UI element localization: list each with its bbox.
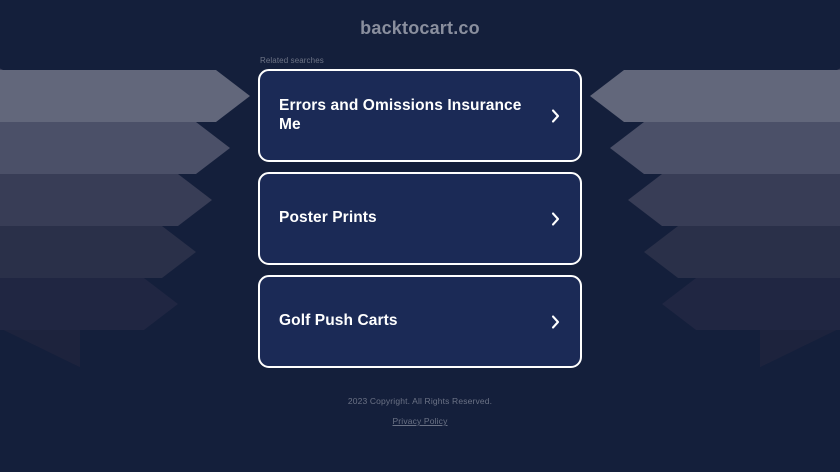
- related-search-title: Golf Push Carts: [279, 312, 549, 330]
- related-search-card-3[interactable]: Golf Push Carts: [258, 275, 582, 368]
- chevron-right-icon: [549, 209, 562, 229]
- related-search-card-2[interactable]: Poster Prints: [258, 172, 582, 265]
- related-search-title: Poster Prints: [279, 209, 549, 227]
- related-search-card-1[interactable]: Errors and Omissions Insurance Me: [258, 69, 582, 162]
- footer: 2023 Copyright. All Rights Reserved. Pri…: [348, 396, 492, 429]
- copyright-text: 2023 Copyright. All Rights Reserved.: [348, 396, 492, 406]
- related-searches-label: Related searches: [260, 56, 582, 65]
- chevron-right-icon: [549, 312, 562, 332]
- related-search-title: Errors and Omissions Insurance Me: [279, 97, 549, 134]
- page-root: backtocart.co Related searches Errors an…: [0, 0, 840, 472]
- related-searches-section: Related searches Errors and Omissions In…: [258, 56, 582, 378]
- chevron-right-icon: [549, 106, 562, 126]
- privacy-policy-link[interactable]: Privacy Policy: [392, 416, 447, 426]
- page-title: backtocart.co: [360, 18, 480, 39]
